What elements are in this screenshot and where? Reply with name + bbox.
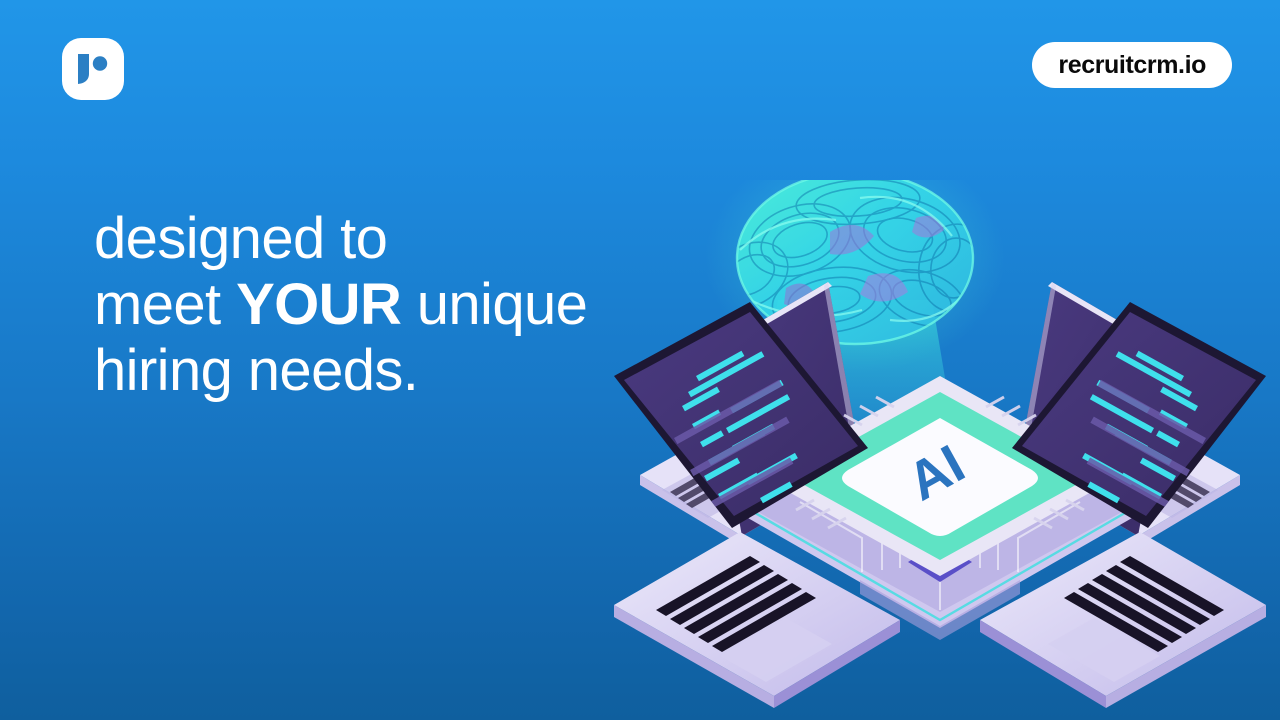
site-url-text: recruitcrm.io — [1058, 53, 1206, 78]
headline-line-2-prefix: meet — [94, 272, 236, 337]
headline-line-2: meet YOUR unique — [94, 272, 654, 338]
headline-line-2-suffix: unique — [401, 272, 587, 337]
headline-line-3: hiring needs. — [94, 338, 654, 404]
ai-brain-chip-laptops-illustration: AI — [600, 180, 1280, 720]
headline-line-1: designed to — [94, 206, 654, 272]
illustration-svg: AI — [600, 180, 1280, 720]
site-url-badge[interactable]: recruitcrm.io — [1032, 42, 1232, 88]
logo-mark-icon — [76, 52, 110, 86]
page-title: designed to meet YOUR unique hiring need… — [94, 206, 654, 404]
headline-emphasis-your: YOUR — [236, 272, 401, 337]
recruitcrm-logo-icon[interactable] — [62, 38, 124, 100]
promo-banner: recruitcrm.io designed to meet YOUR uniq… — [0, 0, 1280, 720]
